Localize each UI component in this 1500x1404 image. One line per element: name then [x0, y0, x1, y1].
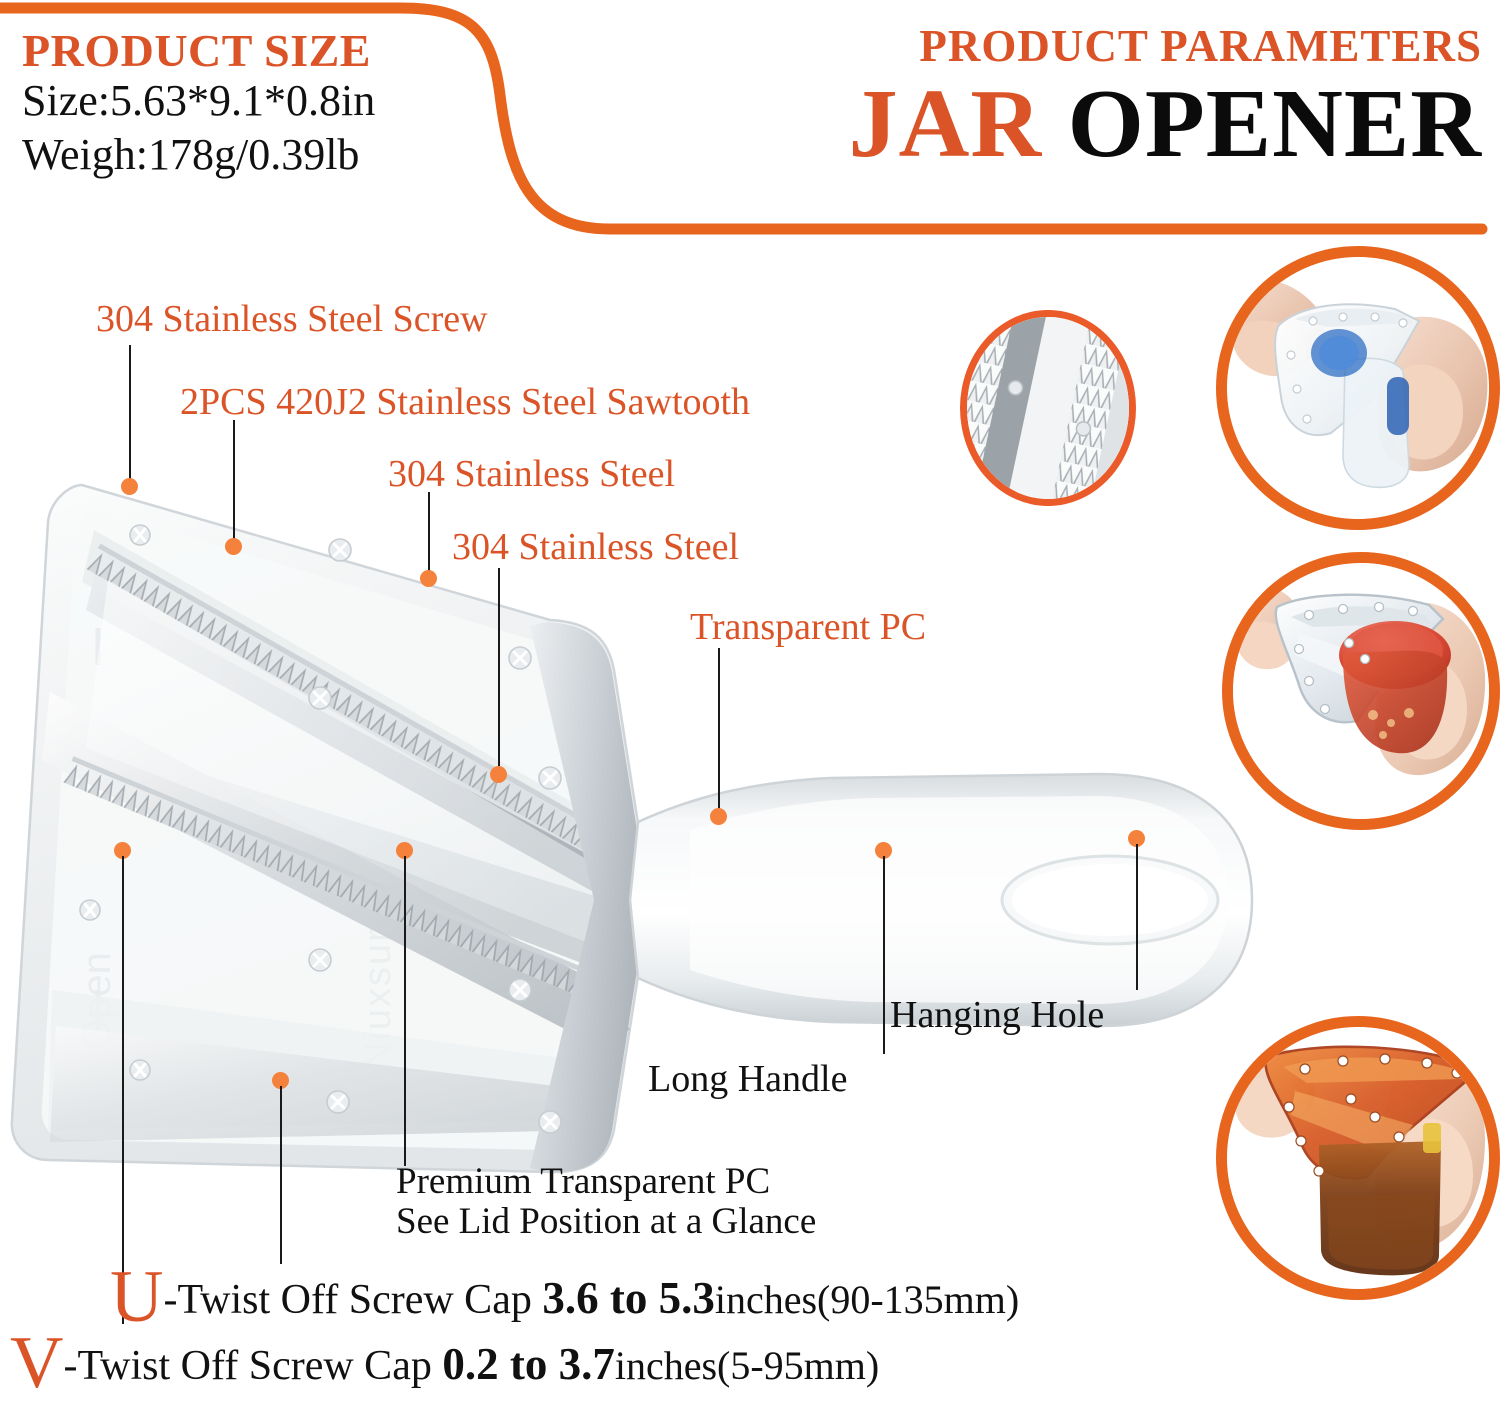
leader-line-premium-pc: [404, 856, 406, 1166]
label-304-stainless-steel-upper: 304 Stainless Steel: [388, 455, 675, 495]
anchor-dot-screw: [121, 478, 138, 495]
anchor-dot-transparent-pc: [710, 808, 727, 825]
spec-line-u: U-Twist Off Screw Cap 3.6 to 5.3inches(9…: [110, 1272, 1019, 1324]
anchor-dot-sawtooth: [225, 538, 242, 555]
photo-water-bottle: [1216, 246, 1500, 530]
photo-water-bottle-art: [1227, 257, 1489, 519]
label-304-stainless-steel-lower: 304 Stainless Steel: [452, 528, 739, 568]
spec-prefix-v: -Twist Off Screw Cap: [63, 1343, 442, 1389]
leader-line-long-handle: [883, 856, 885, 1054]
leader-line-hanging-hole: [1136, 844, 1138, 990]
product-parameters-block: PRODUCT PARAMETERS JAR OPENER: [849, 24, 1482, 176]
leader-line-transparent-pc: [718, 648, 720, 813]
leader-line-screw: [129, 345, 131, 485]
page-title-jar: JAR: [849, 70, 1043, 178]
leader-line-v-spec: [122, 856, 124, 1324]
label-hanging-hole: Hanging Hole: [890, 996, 1104, 1036]
page-title-opener: OPENER: [1068, 70, 1482, 178]
anchor-dot-steel2: [490, 766, 507, 783]
photo-amber-jar-art: [1227, 1027, 1489, 1289]
spec-prefix-u: -Twist Off Screw Cap: [163, 1277, 542, 1323]
sawtooth-detail-circle: [960, 310, 1136, 506]
label-2pcs-420j2-sawtooth: 2PCS 420J2 Stainless Steel Sawtooth: [180, 383, 750, 423]
label-premium-transparent-pc: Premium Transparent PC: [396, 1163, 770, 1202]
leader-line-u-spec: [280, 1086, 282, 1264]
spec-line-v: V-Twist Off Screw Cap 0.2 to 3.7inches(5…: [10, 1338, 879, 1390]
label-see-lid-position: See Lid Position at a Glance: [396, 1203, 816, 1242]
spec-letter-u: U: [110, 1256, 163, 1338]
spec-suffix-u: inches(90-135mm): [715, 1277, 1019, 1322]
product-size-value: Size:5.63*9.1*0.8in: [22, 74, 375, 128]
spec-suffix-v: inches(5-95mm): [615, 1343, 879, 1388]
infographic-canvas: PRODUCT SIZE Size:5.63*9.1*0.8in Weigh:1…: [0, 0, 1500, 1389]
spec-range-u: 3.6 to 5.3: [542, 1273, 715, 1323]
product-size-heading: PRODUCT SIZE: [22, 28, 375, 74]
sawtooth-detail-art: [967, 317, 1129, 499]
photo-red-lid-jar: [1222, 552, 1500, 830]
spec-letter-v: V: [10, 1322, 63, 1404]
label-long-handle: Long Handle: [648, 1060, 847, 1100]
label-transparent-pc: Transparent PC: [690, 608, 926, 648]
page-title: JAR OPENER: [849, 73, 1482, 176]
product-weight-value: Weigh:178g/0.39lb: [22, 128, 375, 182]
leader-line-sawtooth: [233, 420, 235, 545]
photo-red-lid-jar-art: [1233, 563, 1489, 819]
spec-range-v: 0.2 to 3.7: [442, 1339, 615, 1389]
product-size-block: PRODUCT SIZE Size:5.63*9.1*0.8in Weigh:1…: [22, 28, 375, 181]
anchor-dot-steel1: [420, 570, 437, 587]
leader-line-steel1: [428, 492, 430, 577]
product-parameters-heading: PRODUCT PARAMETERS: [849, 24, 1482, 69]
label-304-stainless-steel-screw: 304 Stainless Steel Screw: [96, 300, 488, 340]
photo-amber-jar: [1216, 1016, 1500, 1300]
leader-line-steel2: [498, 568, 500, 773]
